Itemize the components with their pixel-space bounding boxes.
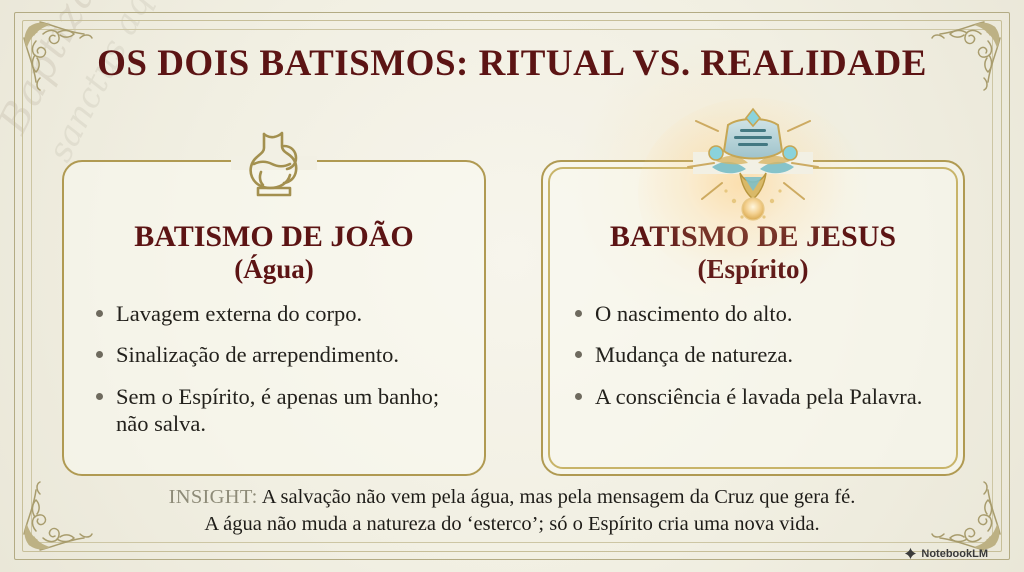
card-subheading-left: (Água) [64, 254, 484, 284]
list-item: Mudança de natureza. [573, 341, 945, 368]
holy-spirit-crest-icon [668, 104, 838, 224]
list-item: Sinalização de arrependimento. [94, 341, 466, 368]
card-batismo-de-joao: BATISMO DE JOÃO (Água) Lavagem externa d… [62, 160, 486, 476]
bullet-list-right: O nascimento do alto. Mudança de naturez… [543, 300, 963, 410]
page-title: OS DOIS BATISMOS: RITUAL VS. REALIDADE [0, 42, 1024, 85]
water-pitcher-icon [219, 117, 329, 213]
infographic-canvas: Baptizat civil lucide sanctus aqua [0, 0, 1024, 572]
list-item: O nascimento do alto. [573, 300, 945, 327]
insight-footer: INSIGHT: A salvação não vem pela água, m… [60, 484, 964, 538]
notebooklm-label: NotebookLM [921, 548, 988, 560]
list-item: Lavagem externa do corpo. [94, 300, 466, 327]
notebooklm-watermark: NotebookLM [904, 547, 988, 560]
notebooklm-spark-icon [904, 547, 917, 560]
insight-line-1: A salvação não vem pela água, mas pela m… [262, 486, 856, 508]
bullet-list-left: Lavagem externa do corpo. Sinalização de… [64, 300, 484, 438]
card-heading-text-left: BATISMO DE JOÃO [134, 220, 413, 253]
list-item: A consciência é lavada pela Palavra. [573, 383, 945, 410]
insight-line-2: A água não muda a natureza do ‘esterco’;… [204, 513, 819, 535]
list-item: Sem o Espírito, é apenas um banho; não s… [94, 383, 466, 438]
card-batismo-de-jesus: BATISMO DE JESUS (Espírito) O nascimento… [541, 160, 965, 476]
insight-label: INSIGHT: [169, 486, 258, 508]
